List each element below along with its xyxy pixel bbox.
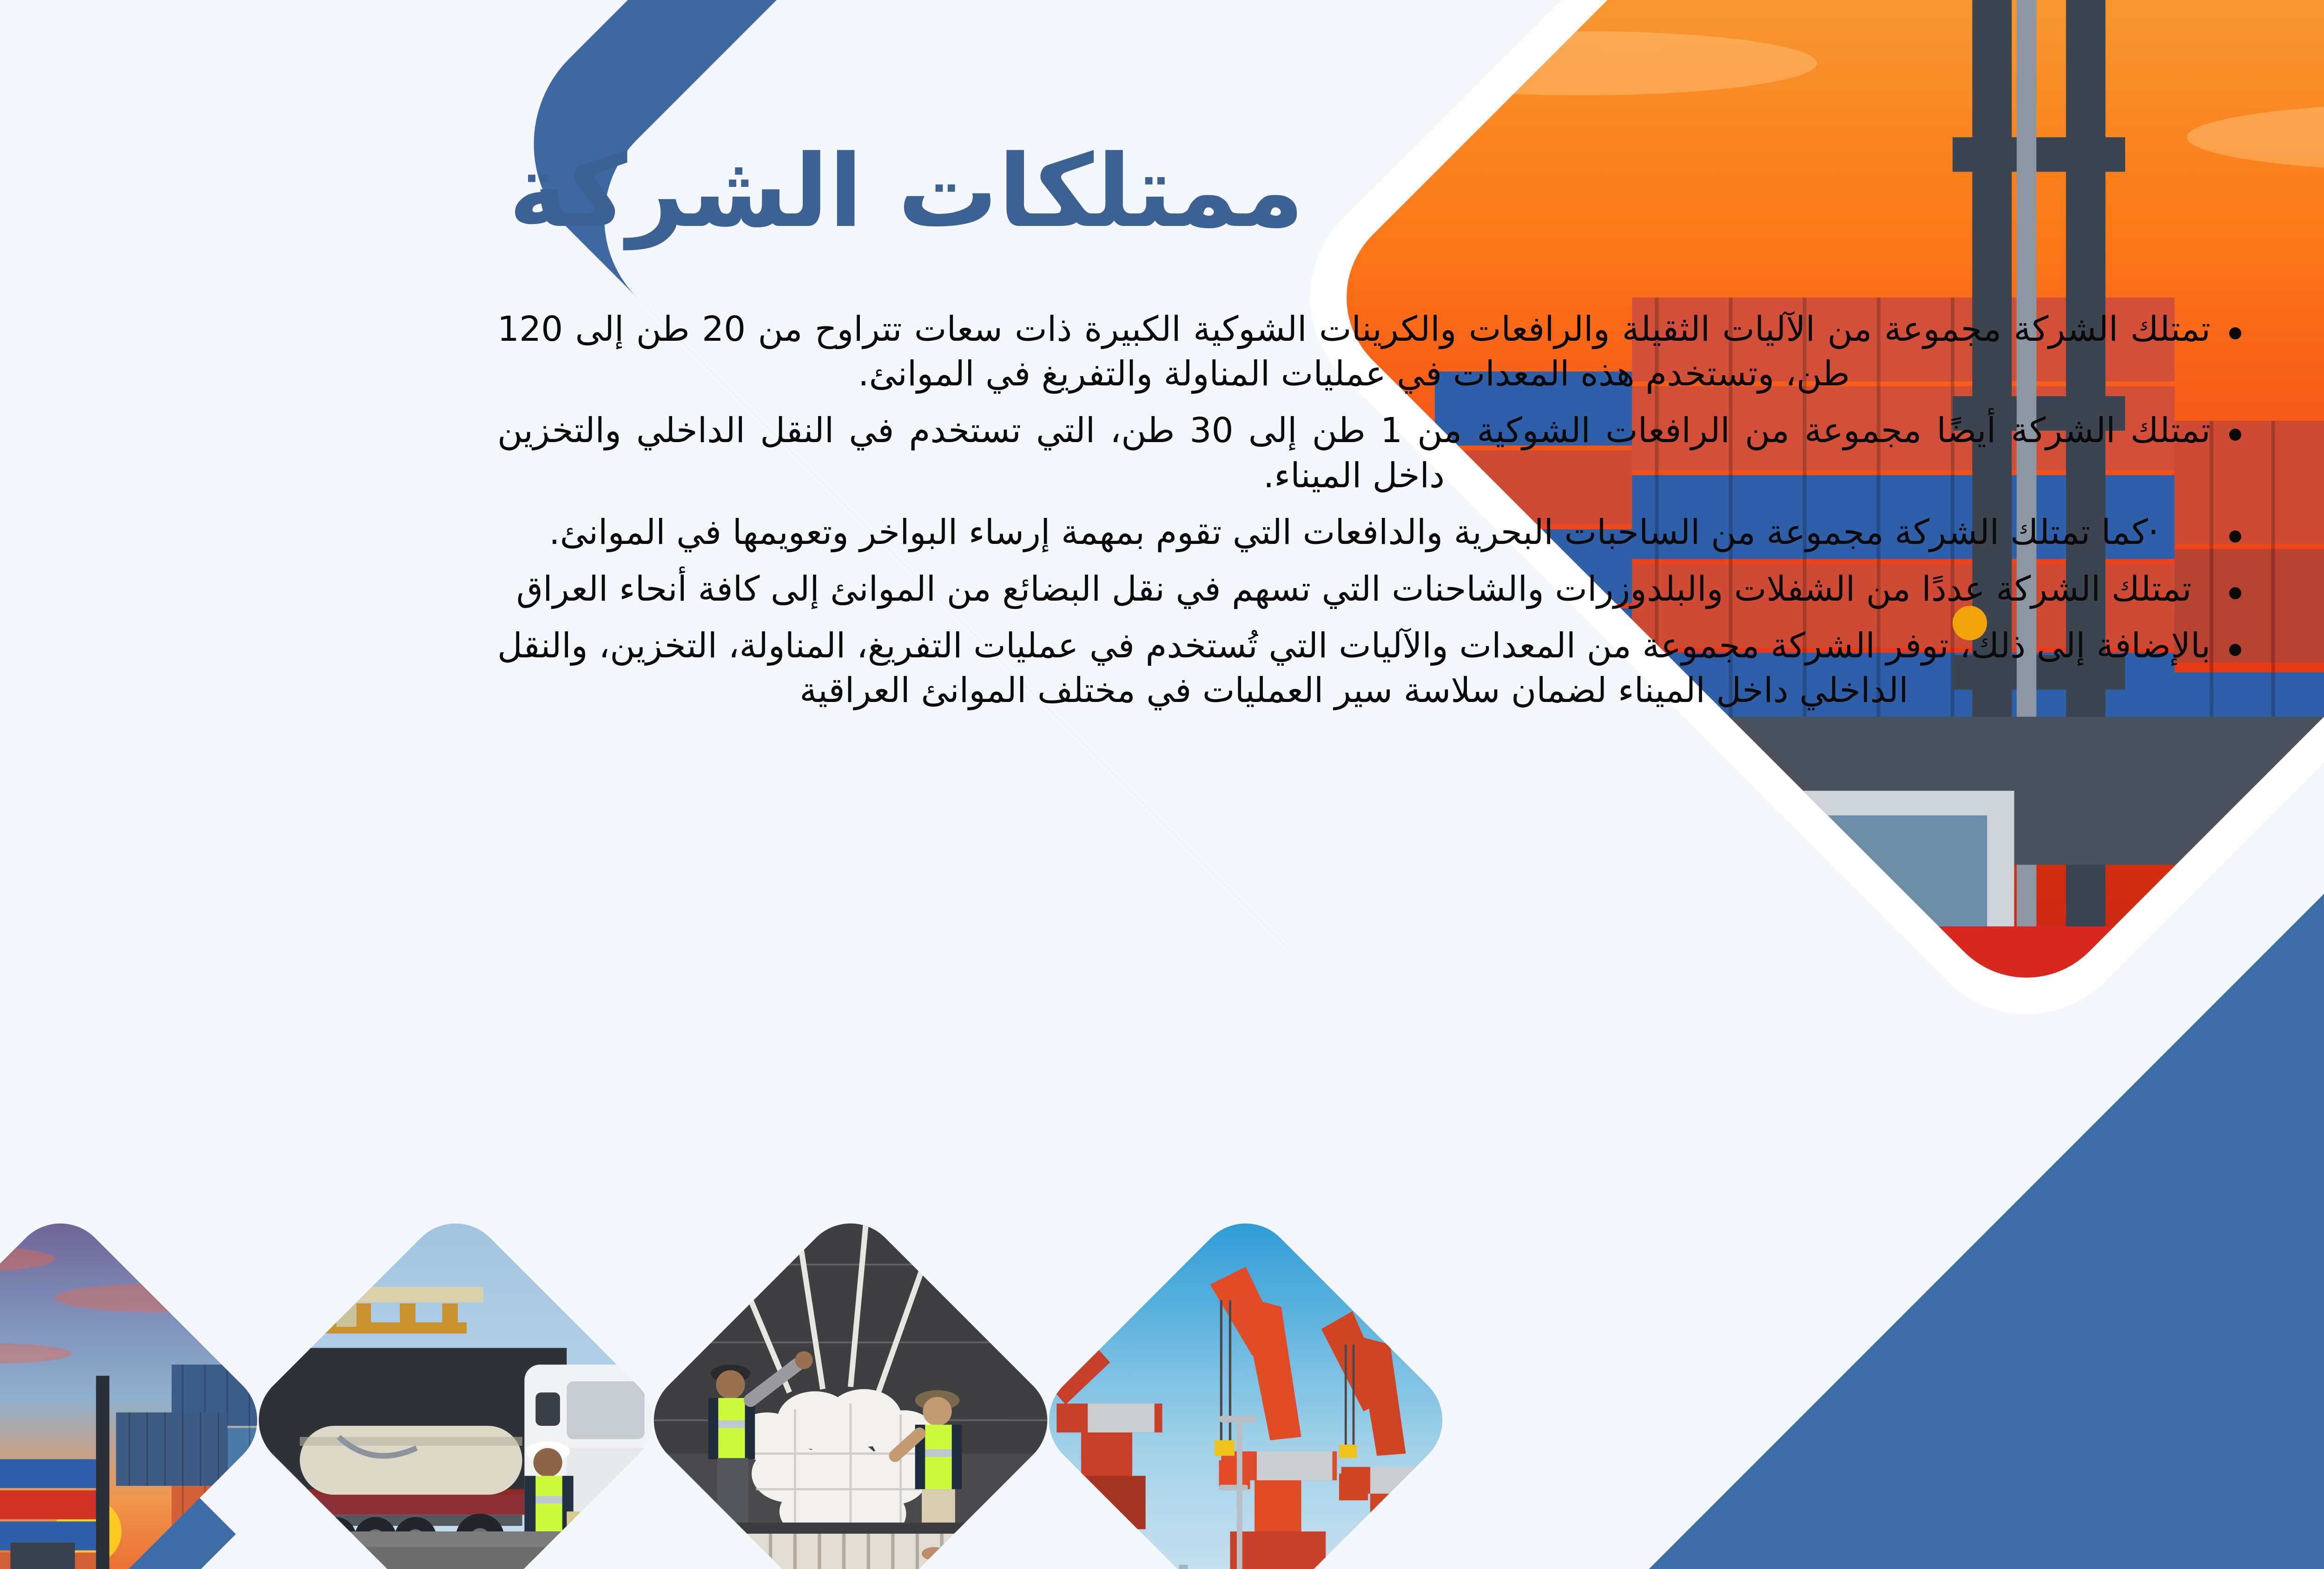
port-gantry-cranes-illustration — [1029, 1203, 1462, 1569]
thumbnail-tanker-truck-worker — [238, 1203, 672, 1569]
bullet-item-1: تمتلك الشركة مجموعة من الآليات الثقيلة و… — [497, 307, 2245, 396]
thumbnail-port-gantry-cranes — [1029, 1203, 1462, 1569]
presentation-slide: ممتلكات الشركة تمتلك الشركة مجموعة من ال… — [0, 0, 2324, 1569]
thumbnail-strip — [0, 1211, 1743, 1569]
body-text-block: تمتلك الشركة مجموعة من الآليات الثقيلة و… — [497, 307, 2245, 725]
page-title: ممتلكات الشركة — [349, 137, 1464, 247]
bullet-item-2: تمتلك الشركة أيضًا مجموعة من الرافعات ال… — [497, 408, 2245, 497]
bullet-list: تمتلك الشركة مجموعة من الآليات الثقيلة و… — [497, 307, 2245, 713]
container-yard-sunset-illustration — [0, 1203, 277, 1569]
bullet-item-4: تمتلك الشركة عددًا من الشفلات والبلدوزرا… — [497, 567, 2245, 611]
bullet-item-5: بالإضافة إلى ذلك، توفر الشركة مجموعة من … — [497, 623, 2245, 713]
thumbnail-container-yard-sunset — [0, 1203, 277, 1569]
thumbnail-dock-workers-cargo-sacks — [634, 1203, 1067, 1569]
dock-workers-cargo-sacks-illustration — [634, 1203, 1067, 1569]
tanker-truck-worker-illustration — [238, 1203, 672, 1569]
bullet-item-3: ·كما تمتلك الشركة مجموعة من الساحبات الب… — [497, 510, 2245, 555]
